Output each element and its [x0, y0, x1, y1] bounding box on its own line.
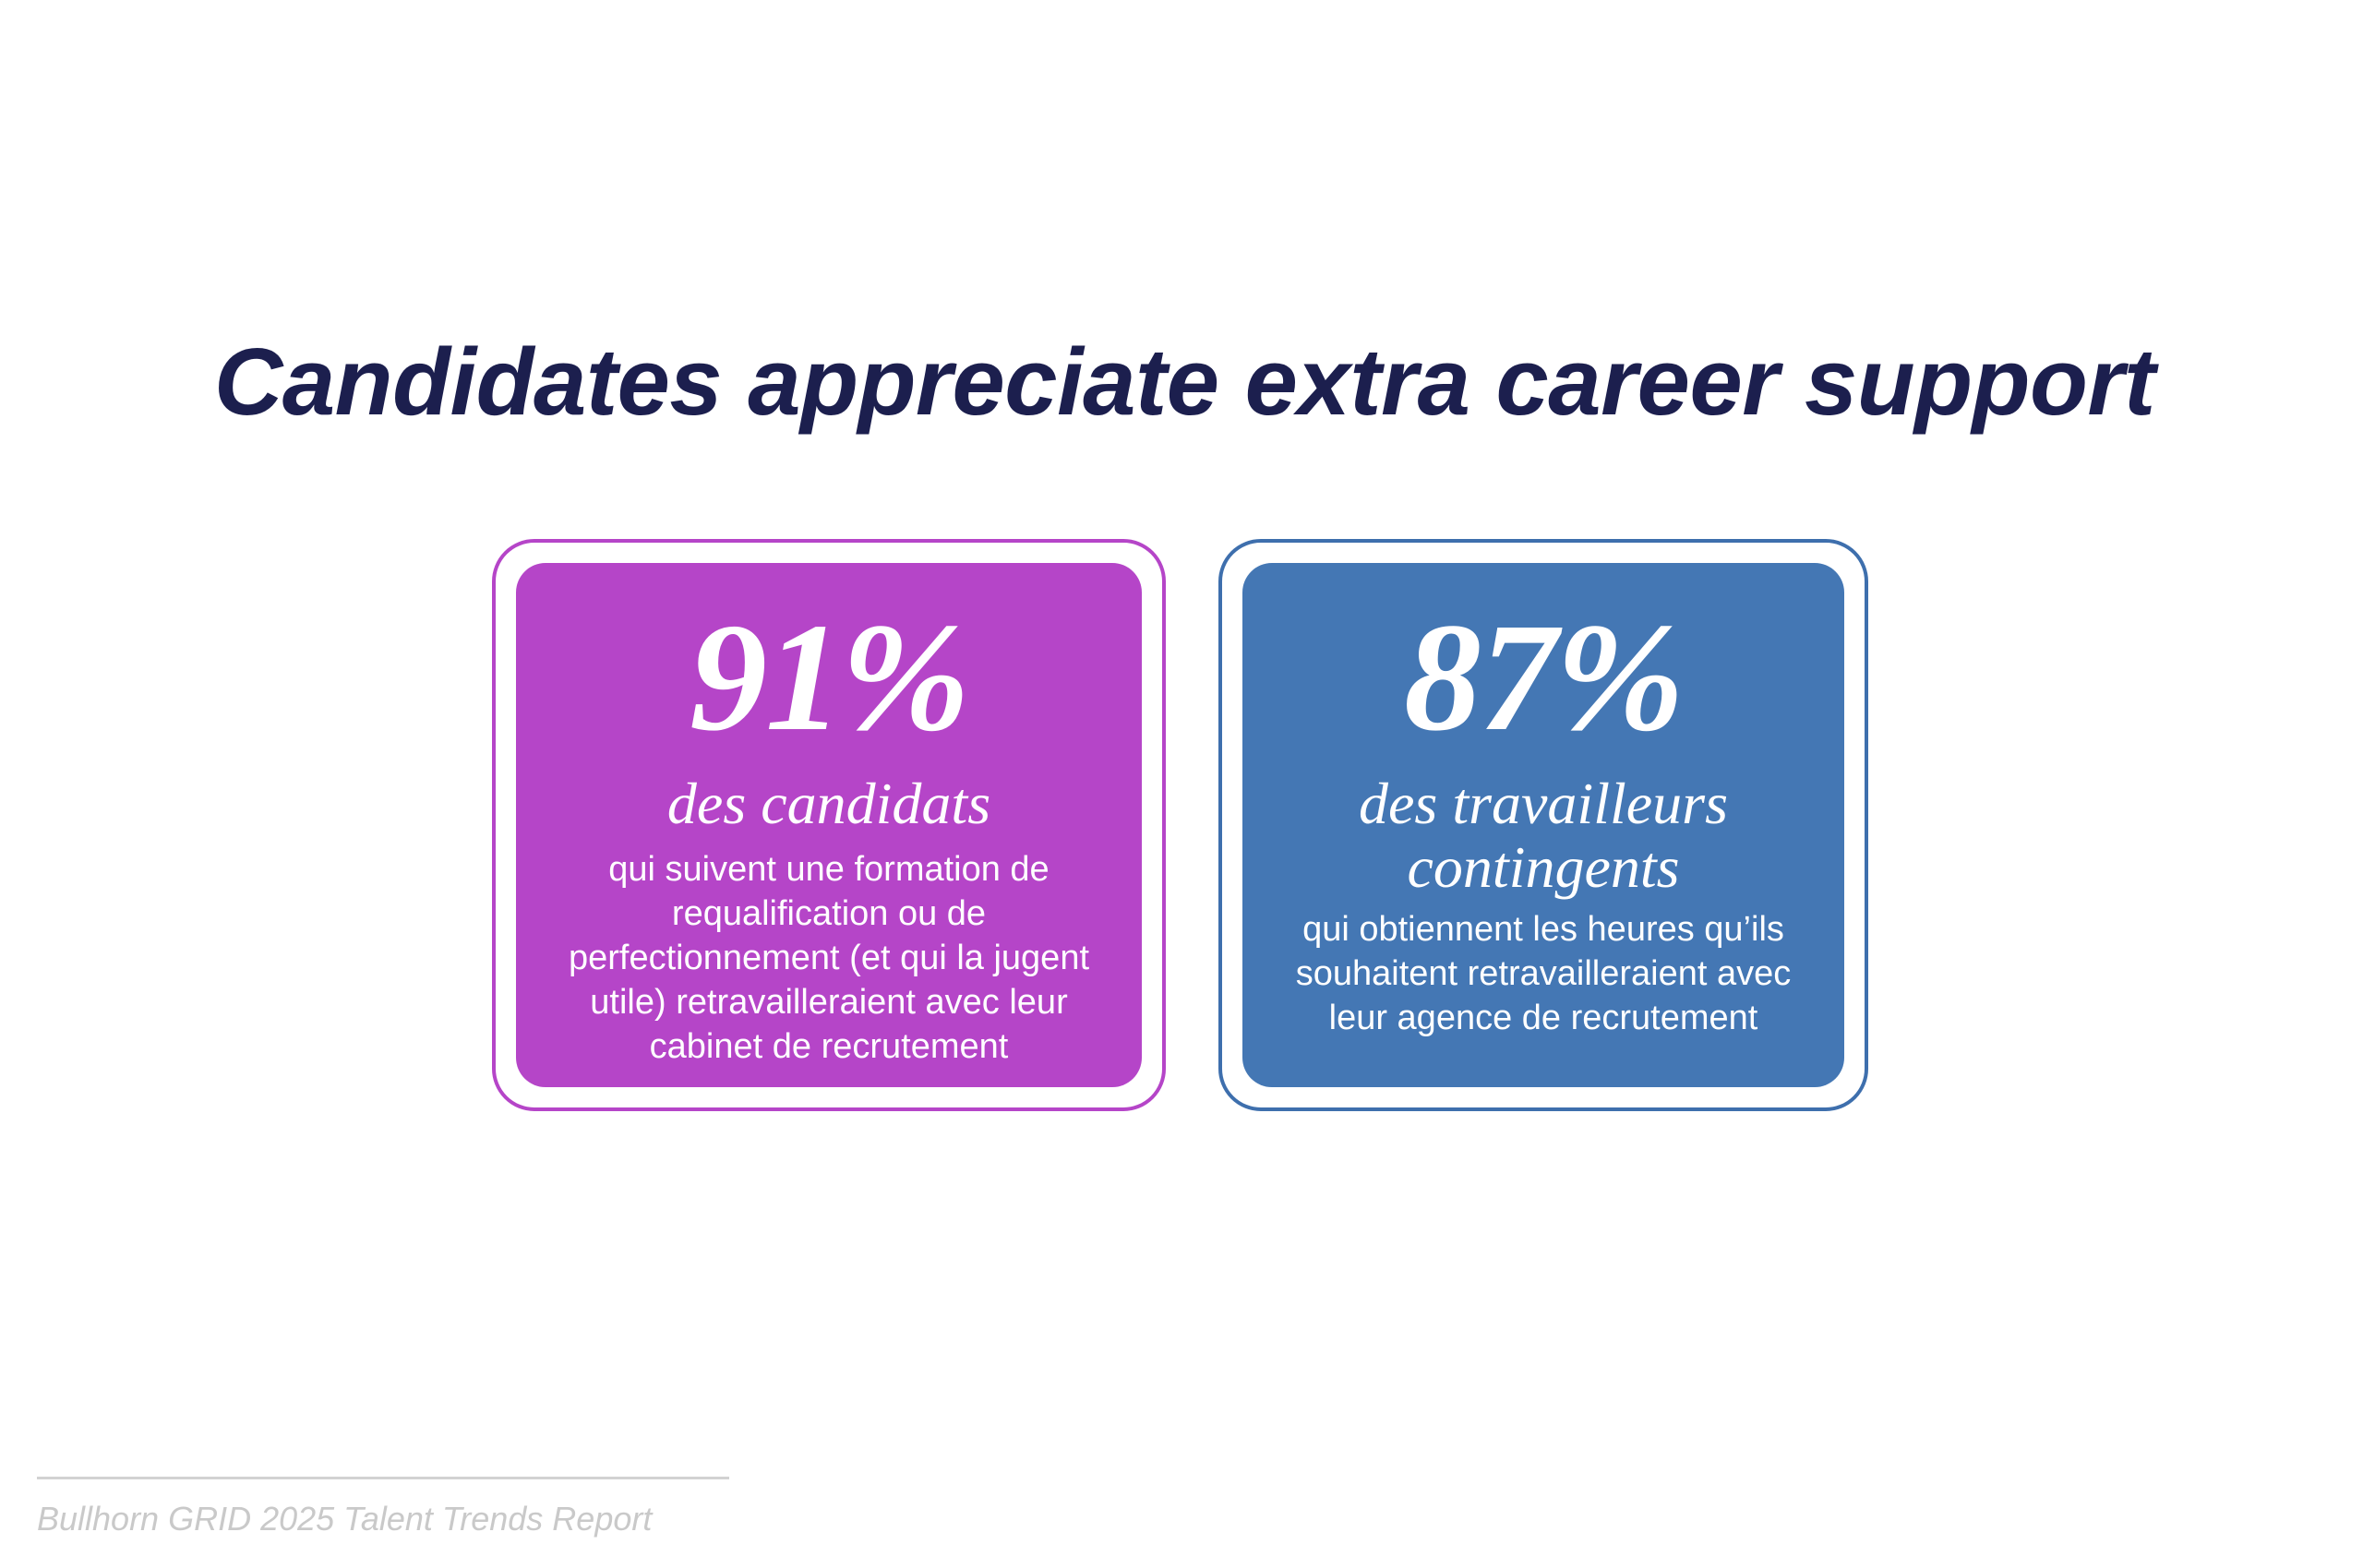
stat-label: des travailleurs contingents — [1266, 772, 1820, 899]
stat-value: 91% — [690, 600, 968, 755]
footer-source-label: Bullhorn GRID 2025 Talent Trends Report — [37, 1500, 738, 1538]
stat-cards-container: 91% des candidats qui suivent une format… — [0, 0, 2363, 1568]
stat-label: des candidats — [667, 772, 990, 835]
footer: Bullhorn GRID 2025 Talent Trends Report — [37, 1477, 738, 1538]
stat-card-body: 91% des candidats qui suivent une format… — [516, 563, 1142, 1087]
stat-card-candidats: 91% des candidats qui suivent une format… — [492, 539, 1166, 1111]
stat-description: qui obtiennent les heures qu’ils souhait… — [1266, 908, 1820, 1041]
footer-divider — [37, 1477, 729, 1479]
stat-card-travailleurs: 87% des travailleurs contingents qui obt… — [1218, 539, 1868, 1111]
stat-description: qui suivent une formation de requalifica… — [540, 848, 1118, 1069]
stat-card-body: 87% des travailleurs contingents qui obt… — [1242, 563, 1844, 1087]
stat-value: 87% — [1404, 600, 1683, 755]
